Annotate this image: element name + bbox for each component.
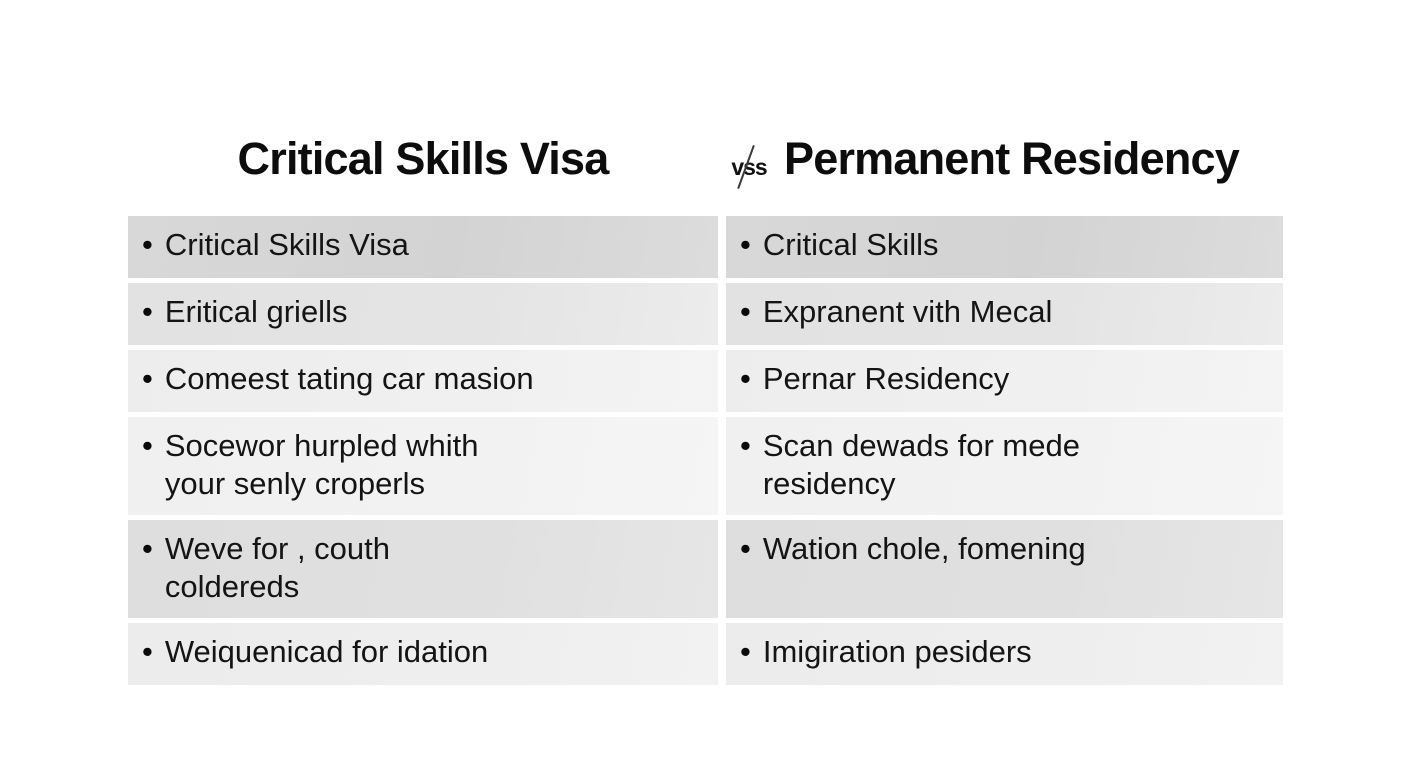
bullet-icon: •: [142, 633, 165, 671]
table-cell-text: Critical Skills Visa: [165, 226, 704, 264]
table-row: • Eritical griells • Expranent vith Meca…: [128, 283, 1283, 345]
bullet-icon: •: [142, 427, 165, 465]
bullet-icon: •: [142, 226, 165, 264]
table-cell-text: Imigiration pesiders: [763, 633, 1269, 671]
table-cell-left: • Socewor hurpled whith your senly crope…: [128, 417, 718, 515]
versus-separator: vss: [718, 156, 780, 179]
table-cell-left: • Eritical griells: [128, 283, 718, 345]
bullet-icon: •: [740, 293, 763, 331]
table-cell-left: • Critical Skills Visa: [128, 216, 718, 278]
left-column-title: Critical Skills Visa: [128, 136, 718, 181]
bullet-icon: •: [142, 360, 165, 398]
table-row: • Critical Skills Visa • Critical Skills: [128, 216, 1283, 278]
table-cell-right: • Wation chole, fomening: [726, 520, 1283, 618]
table-cell-text: Wation chole, fomening: [763, 530, 1269, 568]
table-cell-text: Weiquenicad for idation: [165, 633, 704, 671]
table-cell-text: Scan dewads for mede residency: [763, 427, 1269, 503]
table-cell-left: • Comeest tating car masion: [128, 350, 718, 412]
bullet-icon: •: [142, 530, 165, 568]
bullet-icon: •: [740, 427, 763, 465]
table-row: • Comeest tating car masion • Pernar Res…: [128, 350, 1283, 412]
table-cell-text: Socewor hurpled whith your senly croperl…: [165, 427, 704, 503]
table-row: • Weve for , couth coldereds • Wation ch…: [128, 520, 1283, 618]
bullet-icon: •: [740, 226, 763, 264]
table-cell-text: Eritical griells: [165, 293, 704, 331]
table-cell-text: Comeest tating car masion: [165, 360, 704, 398]
table-row: • Weiquenicad for idation • Imigiration …: [128, 623, 1283, 685]
table-cell-text: Critical Skills: [763, 226, 1269, 264]
table-row: • Socewor hurpled whith your senly crope…: [128, 417, 1283, 515]
table-cell-right: • Critical Skills: [726, 216, 1283, 278]
versus-label: vss: [731, 156, 766, 179]
bullet-icon: •: [740, 530, 763, 568]
bullet-icon: •: [740, 633, 763, 671]
table-cell-text: Weve for , couth coldereds: [165, 530, 704, 606]
table-cell-text: Expranent vith Mecal: [763, 293, 1269, 331]
bullet-icon: •: [740, 360, 763, 398]
table-cell-left: • Weve for , couth coldereds: [128, 520, 718, 618]
comparison-table: • Critical Skills Visa • Critical Skills…: [128, 216, 1283, 690]
table-cell-left: • Weiquenicad for idation: [128, 623, 718, 685]
bullet-icon: •: [142, 293, 165, 331]
right-column-title: Permanent Residency: [780, 136, 1283, 181]
table-cell-text: Pernar Residency: [763, 360, 1269, 398]
table-cell-right: • Scan dewads for mede residency: [726, 417, 1283, 515]
comparison-slide: Critical Skills Visa vss Permanent Resid…: [0, 0, 1408, 768]
table-cell-right: • Imigiration pesiders: [726, 623, 1283, 685]
table-cell-right: • Pernar Residency: [726, 350, 1283, 412]
table-cell-right: • Expranent vith Mecal: [726, 283, 1283, 345]
comparison-header: Critical Skills Visa vss Permanent Resid…: [128, 118, 1283, 198]
